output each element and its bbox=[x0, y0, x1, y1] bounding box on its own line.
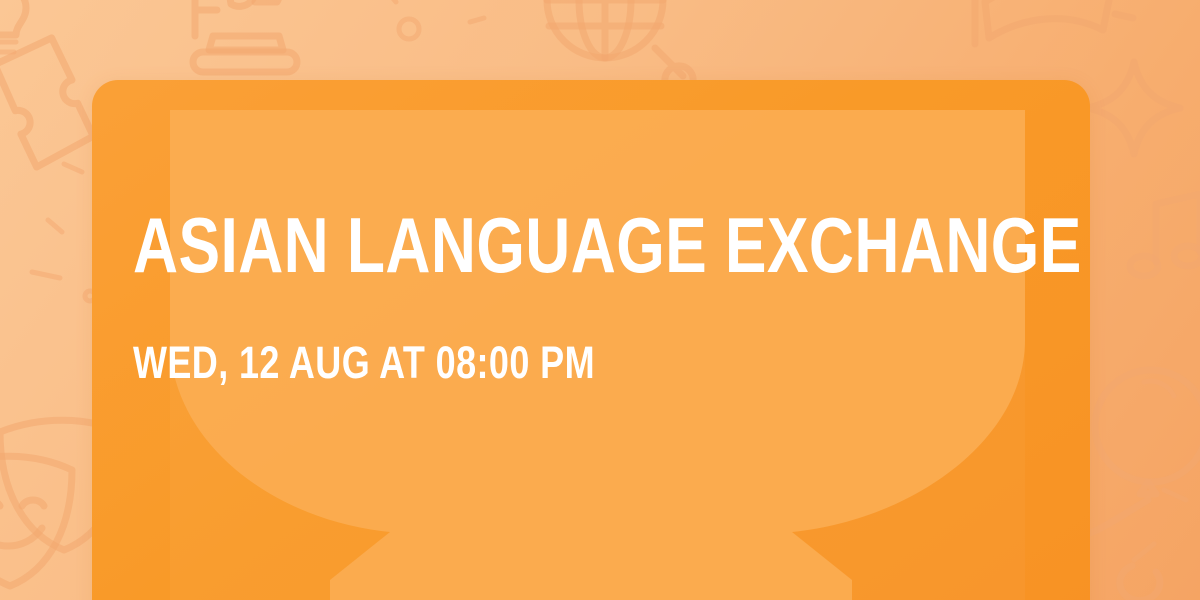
podium-icon bbox=[193, 0, 297, 72]
lightbulb-icon bbox=[0, 0, 26, 52]
event-banner: ASIAN LANGUAGE EXCHANGE WED, 12 AUG AT 0… bbox=[0, 0, 1200, 600]
flag-banner-icon bbox=[975, 0, 1133, 44]
event-text-block: ASIAN LANGUAGE EXCHANGE WED, 12 AUG AT 0… bbox=[133, 206, 1033, 385]
confetti-icon bbox=[1134, 490, 1186, 560]
sparkle-icon bbox=[1088, 62, 1180, 154]
confetti-icon bbox=[32, 164, 95, 301]
event-datetime: WED, 12 AUG AT 08:00 PM bbox=[133, 340, 853, 385]
ticket-icon bbox=[0, 34, 97, 170]
event-card: ASIAN LANGUAGE EXCHANGE WED, 12 AUG AT 0… bbox=[92, 80, 1090, 600]
music-note-icon bbox=[1130, 194, 1200, 276]
page-title: ASIAN LANGUAGE EXCHANGE bbox=[133, 206, 853, 284]
confetti-icon bbox=[386, 0, 484, 39]
